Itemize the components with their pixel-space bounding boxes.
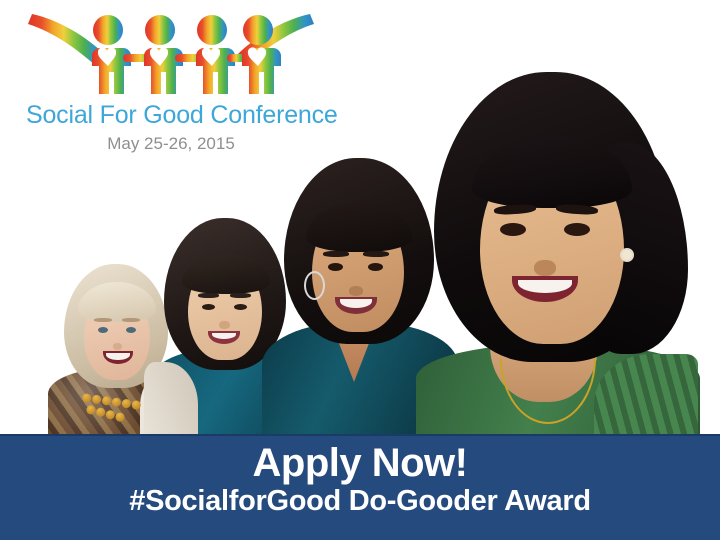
woman-blonde-nose [113,343,122,350]
logo-title: Social For Good Conference [26,101,316,130]
woman-front-earring [620,248,634,262]
woman-latina-brow-left [323,251,349,257]
woman-latina-nose [349,286,363,296]
woman-east-asian-eye-right [234,304,247,310]
woman-south-asian-front [404,58,704,440]
apply-now-banner[interactable]: Apply Now! #SocialforGood Do-Gooder Awar… [0,434,720,540]
four-people-holding-hands-rainbow-logo [26,4,316,96]
poster-root: Social For Good Conference May 25-26, 20… [0,0,720,540]
woman-east-asian-brow-left [198,293,219,298]
woman-blonde-eye-right [126,327,136,333]
banner-subtitle: #SocialforGood Do-Gooder Award [0,484,720,518]
woman-front-nose [534,260,556,276]
woman-blonde-eye-left [98,327,108,333]
woman-front-eye-left [500,223,526,236]
woman-latina-brow-right [363,251,389,257]
woman-blonde-brow-left [94,318,112,322]
banner-title: Apply Now! [0,436,720,484]
woman-blonde-brow-right [122,318,140,322]
woman-east-asian-eye-left [202,304,215,310]
woman-front-eye-right [564,223,590,236]
woman-east-asian-nose [219,321,230,329]
conference-logo: Social For Good Conference May 25-26, 20… [26,4,326,156]
woman-latina-hoop-earring [304,271,325,300]
logo-date: May 25-26, 2015 [26,134,316,154]
woman-east-asian-brow-right [230,293,251,298]
woman-latina-eye-right [368,263,383,271]
woman-latina-eye-left [328,263,343,271]
